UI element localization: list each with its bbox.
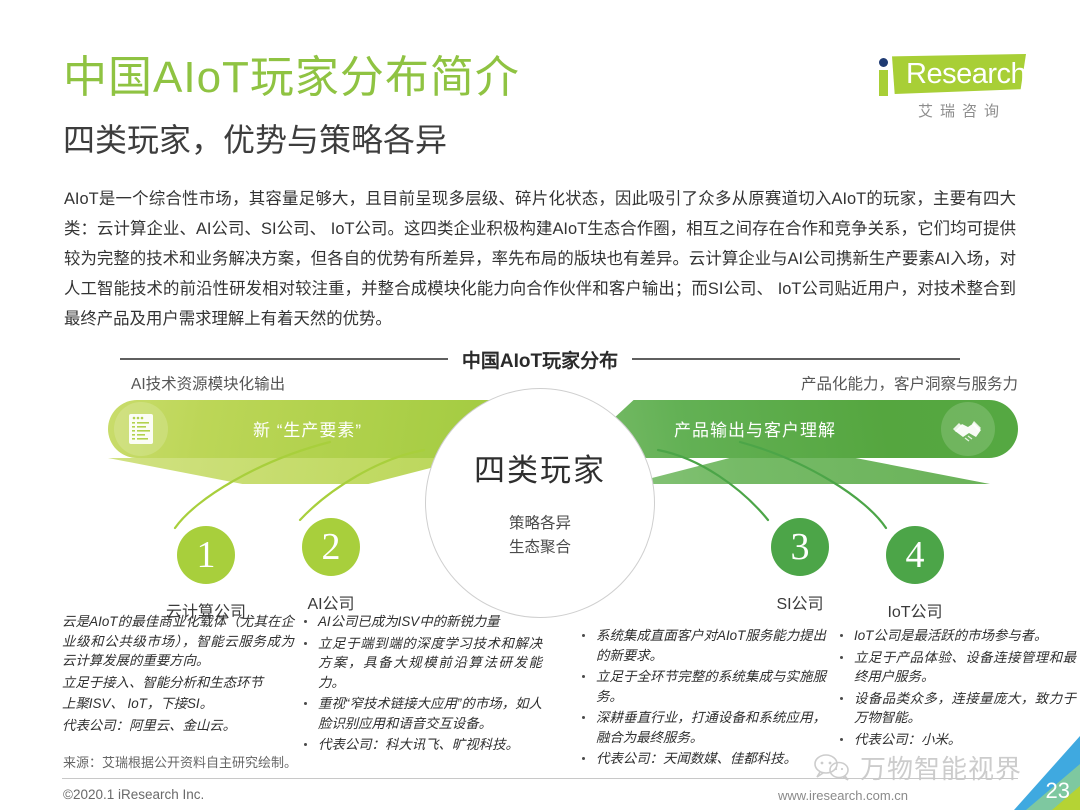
center-main-text: 四类玩家	[474, 445, 606, 490]
node-4-label: IoT公司	[855, 598, 975, 622]
logo-chinese-name: 艾瑞咨询	[898, 100, 1026, 121]
page-number: 23	[1046, 778, 1070, 804]
body-paragraph: AIoT是一个综合性市场，其容量足够大，且目前呈现多层级、碎片化状态，因此吸引了…	[64, 184, 1016, 334]
node-2[interactable]: 2 AI公司	[271, 518, 391, 614]
logo-i-dot-icon	[879, 58, 888, 67]
node-3[interactable]: 3 SI公司	[740, 518, 860, 614]
iresearch-logo: Research 艾瑞咨询	[876, 52, 1026, 124]
slide-page: 中国AIoT玩家分布简介 四类玩家，优势与策略各异 Research 艾瑞咨询 …	[0, 0, 1080, 810]
node-3-circle: 3	[771, 518, 829, 576]
diagram-region: 中国AIoT玩家分布 AI技术资源模块化输出 产品化能力，客户洞察与服务力	[0, 338, 1080, 758]
node-2-label: AI公司	[271, 590, 391, 614]
website-url: www.iresearch.com.cn	[778, 788, 908, 803]
node-2-circle: 2	[302, 518, 360, 576]
logo-wordmark: Research	[906, 57, 1026, 91]
node-1-circle: 1	[177, 526, 235, 584]
node-1[interactable]: 1 云计算公司	[146, 526, 266, 622]
node-3-label: SI公司	[740, 590, 860, 614]
page-title: 中国AIoT玩家分布简介	[63, 56, 520, 100]
footer-divider	[62, 778, 1018, 779]
page-subtitle: 四类玩家，优势与策略各异	[63, 124, 447, 156]
node-4[interactable]: 4 IoT公司	[855, 526, 975, 622]
logo-mark: Research	[876, 52, 1026, 98]
logo-i-stem	[879, 70, 888, 96]
center-sub-line1: 策略各异	[509, 512, 571, 536]
center-sub-text: 策略各异 生态聚合	[509, 512, 571, 560]
node-1-label: 云计算公司	[146, 598, 266, 622]
center-circle: 四类玩家 策略各异 生态聚合	[425, 388, 655, 618]
center-sub-line2: 生态聚合	[509, 536, 571, 560]
copyright-text: ©2020.1 iResearch Inc.	[63, 787, 204, 802]
node-4-circle: 4	[886, 526, 944, 584]
